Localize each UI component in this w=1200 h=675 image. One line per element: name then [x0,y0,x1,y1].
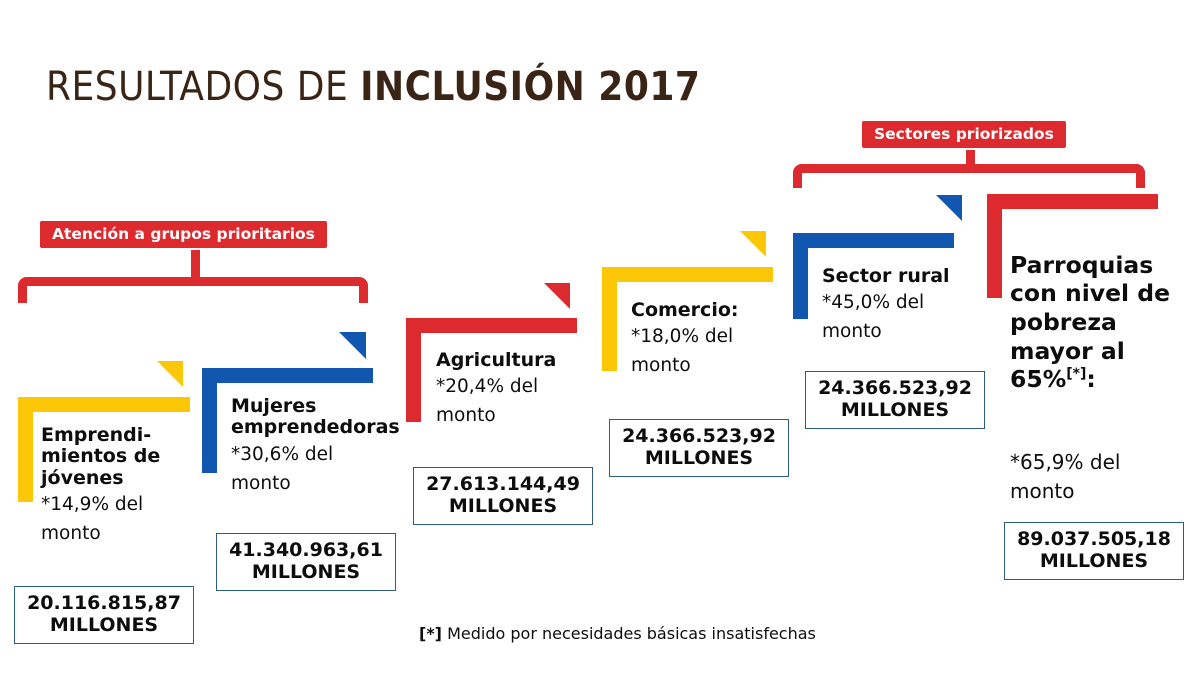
amount-unit-emprendimientos-jovenes: MILLONES [21,614,187,636]
amount-box-agricultura: 27.613.144,49 MILLONES [413,467,593,525]
item-percent-parroquias-pobreza: *65,9% del monto [1010,448,1120,506]
amount-value-mujeres-emprendedoras: 41.340.963,61 [223,539,389,561]
l-frame-top-bar [987,194,1158,209]
page-title-light: RESULTADOS DE [46,64,360,110]
accent-triangle-agricultura [544,283,570,309]
amount-unit-sector-rural: MILLONES [812,399,978,421]
amount-unit-mujeres-emprendedoras: MILLONES [223,561,389,583]
item-heading-parroquias-colon: : [1086,365,1095,393]
item-heading-parroquias-superscript: [*] [1066,366,1086,382]
footnote: [*] Medido por necesidades básicas insat… [419,624,816,643]
group-bracket-bar-grupos-prioritarios [18,277,368,303]
infographic-canvas: RESULTADOS DE INCLUSIÓN 2017 Atención a … [0,0,1200,675]
item-mujeres-emprendedoras: Mujeres emprendedoras *30,6% del monto [231,396,411,498]
l-frame-top-bar [18,397,190,412]
l-frame-left-bar [602,267,617,371]
l-frame-top-bar [406,318,577,333]
amount-box-sector-rural: 24.366.523,92 MILLONES [805,371,985,429]
item-emprendimientos-jovenes: Emprendi- mientos de jóvenes *14,9% del … [41,425,209,549]
amount-box-emprendimientos-jovenes: 20.116.815,87 MILLONES [14,586,194,644]
page-title: RESULTADOS DE INCLUSIÓN 2017 [46,64,700,110]
accent-triangle-emprendimientos-jovenes [157,361,183,387]
amount-value-parroquias-pobreza: 89.037.505,18 [1011,528,1177,550]
item-percent-agricultura: *20,4% del monto [436,373,611,430]
item-percent-comercio: *18,0% del monto [631,323,806,380]
footnote-text: Medido por necesidades básicas insatisfe… [442,624,816,643]
group-label-grupos-prioritarios: Atención a grupos prioritarios [40,221,327,248]
item-sector-rural: Sector rural *45,0% del monto [822,266,992,347]
group-label-sectores-priorizados: Sectores priorizados [862,121,1066,148]
item-heading-comercio: Comercio: [631,300,806,321]
l-frame-top-bar [202,368,373,383]
amount-value-agricultura: 27.613.144,49 [420,473,586,495]
footnote-marker: [*] [419,624,442,643]
amount-unit-parroquias-pobreza: MILLONES [1011,550,1177,572]
item-percent-emprendimientos-jovenes: *14,9% del monto [41,491,209,548]
amount-box-mujeres-emprendedoras: 41.340.963,61 MILLONES [216,533,396,591]
amount-value-emprendimientos-jovenes: 20.116.815,87 [21,592,187,614]
amount-value-comercio: 24.366.523,92 [616,425,782,447]
amount-value-sector-rural: 24.366.523,92 [812,377,978,399]
amount-box-parroquias-pobreza: 89.037.505,18 MILLONES [1004,522,1184,580]
item-percent-sector-rural: *45,0% del monto [822,289,992,346]
item-heading-sector-rural: Sector rural [822,266,992,287]
item-comercio: Comercio: *18,0% del monto [631,300,806,381]
item-heading-agricultura: Agricultura [436,350,611,371]
l-frame-top-bar [793,233,954,248]
l-frame-left-bar [406,318,421,422]
item-heading-parroquias-pobreza: Parroquias con nivel de pobreza mayor al… [1010,222,1200,394]
item-agricultura: Agricultura *20,4% del monto [436,350,611,431]
accent-triangle-comercio [740,231,766,257]
amount-unit-comercio: MILLONES [616,447,782,469]
page-title-bold: INCLUSIÓN 2017 [360,64,700,110]
amount-unit-agricultura: MILLONES [420,495,586,517]
amount-box-comercio: 24.366.523,92 MILLONES [609,419,789,477]
l-frame-left-bar [18,397,33,502]
accent-triangle-sector-rural [936,195,962,221]
l-frame-left-bar [793,233,808,319]
l-frame-top-bar [602,267,773,282]
item-heading-emprendimientos-jovenes: Emprendi- mientos de jóvenes [41,425,209,489]
accent-triangle-mujeres-emprendedoras [339,332,366,359]
l-frame-left-bar [987,194,1002,298]
item-percent-mujeres-emprendedoras: *30,6% del monto [231,441,411,498]
l-frame-left-bar [202,368,217,473]
group-bracket-bar-sectores-priorizados [793,164,1145,188]
item-heading-mujeres-emprendedoras: Mujeres emprendedoras [231,396,411,439]
